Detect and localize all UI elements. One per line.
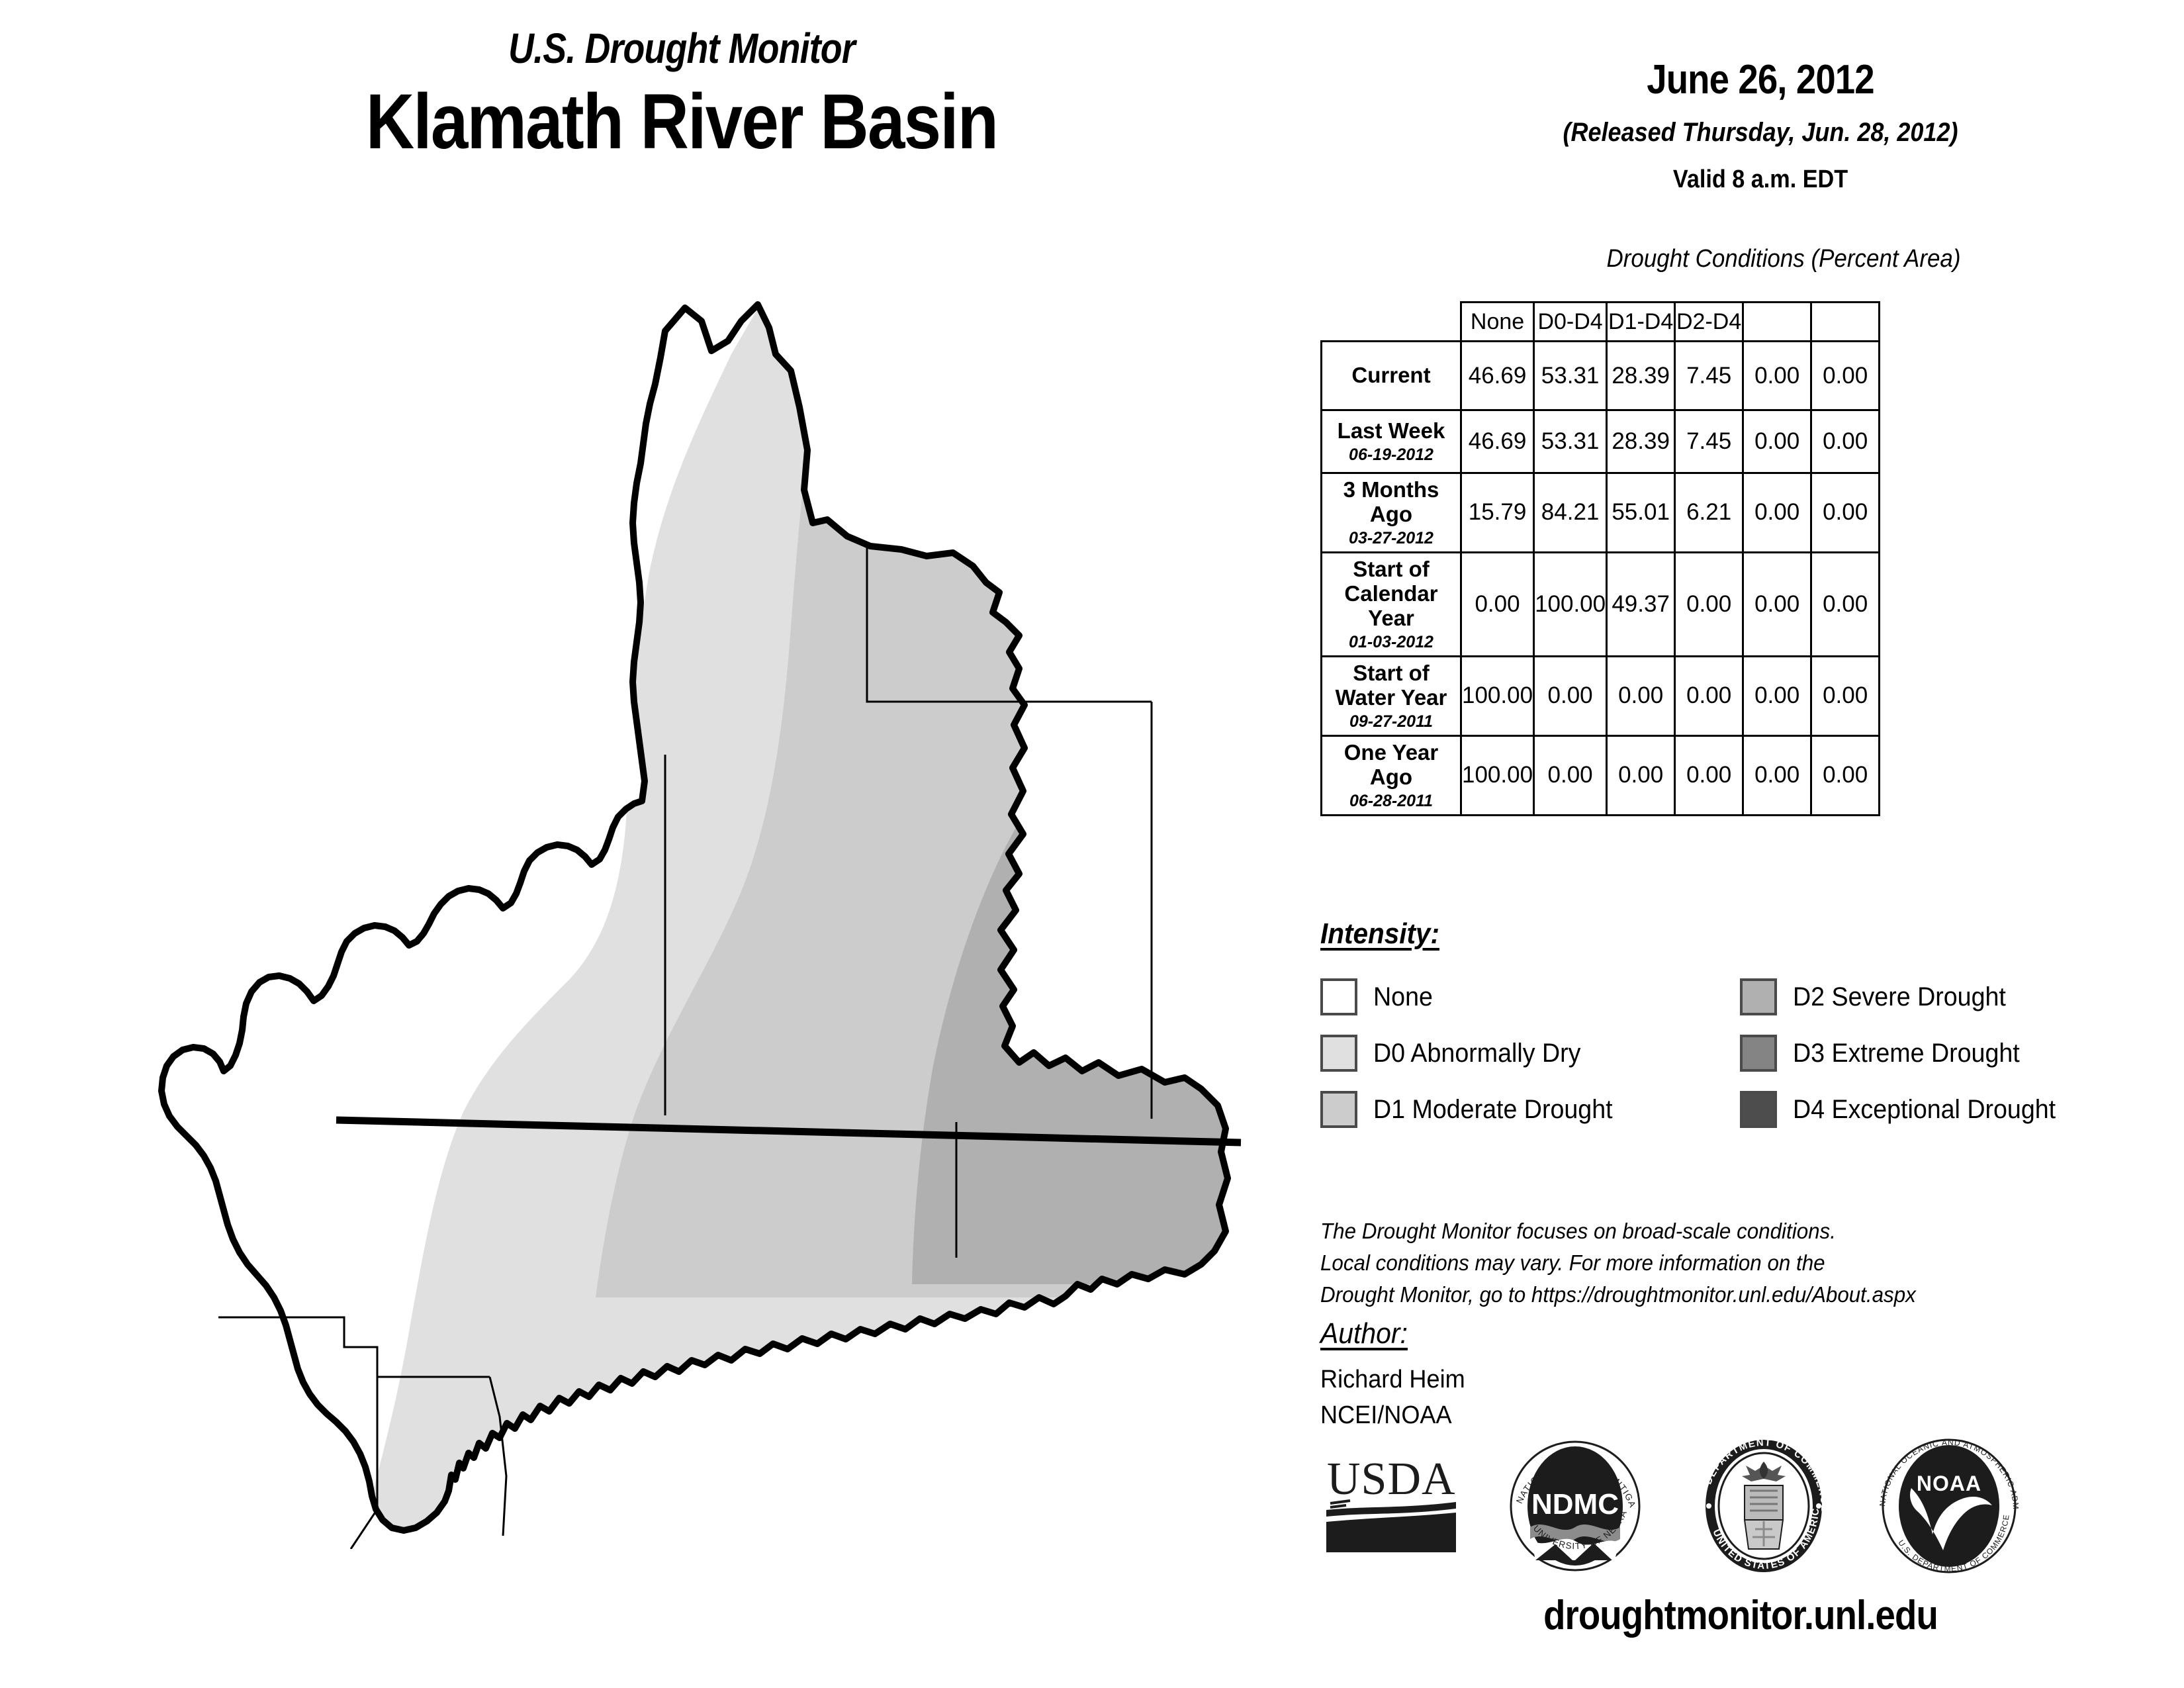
cell-oneyear-d4: 0.00 [1811,735,1880,815]
cell-current-d2d4: 7.45 [1675,342,1743,410]
table-corner-cell [1322,303,1461,342]
swatch-d0-icon [1320,1035,1357,1072]
drought-monitor-page: U.S. Drought Monitor Klamath River Basin [0,0,2184,1688]
disclaimer-text: The Drought Monitor focuses on broad-sca… [1320,1215,2094,1311]
map-title-block: U.S. Drought Monitor Klamath River Basin [0,26,1363,164]
row-label-date: 09-27-2011 [1325,712,1457,731]
col-header-d4: D4 [1811,303,1880,342]
valid-date: June 26, 2012 [1411,56,2110,103]
svg-text:NDMC: NDMC [1531,1488,1619,1521]
cell-3months-d1d4: 55.01 [1607,473,1675,553]
cell-lastweek-d3d4: 0.00 [1743,410,1811,473]
cell-oneyear-none: 100.00 [1461,735,1534,815]
row-label-text-line1: Start of [1353,557,1430,581]
row-label-text: One Year Ago [1344,740,1439,789]
legend-item-d3: D3 Extreme Drought [1740,1029,2072,1077]
cell-3months-d2d4: 6.21 [1675,473,1743,553]
col-header-none: None [1461,303,1534,342]
author-heading: Author: [1320,1317,1408,1350]
table-row: Current 46.69 53.31 28.39 7.45 0.00 0.00 [1322,342,1880,410]
svg-text:NOAA: NOAA [1917,1472,1981,1495]
website-url[interactable]: droughtmonitor.unl.edu [1371,1592,2111,1639]
legend-item-d0: D0 Abnormally Dry [1320,1029,1628,1077]
cell-lastweek-d0d4: 53.31 [1534,410,1607,473]
drought-map[interactable] [66,291,1343,1549]
cell-calyear-d0d4: 100.00 [1534,552,1607,656]
cell-current-none: 46.69 [1461,342,1534,410]
intensity-heading: Intensity: [1320,917,1439,951]
swatch-d4-icon [1740,1091,1777,1128]
cell-current-d0d4: 53.31 [1534,342,1607,410]
row-label-3-months-ago: 3 Months Ago 03-27-2012 [1322,473,1461,553]
swatch-d3-icon [1740,1035,1777,1072]
row-label-last-week: Last Week 06-19-2012 [1322,410,1461,473]
table-head: None D0-D4 D1-D4 D2-D4 D3-D4 D4 [1322,303,1880,342]
cell-calyear-d4: 0.00 [1811,552,1880,656]
cell-oneyear-d0d4: 0.00 [1534,735,1607,815]
ndmc-logo-icon: NDMC NATIONAL DROUGHT MITIGATION CENTER … [1509,1440,1641,1572]
table-row: Last Week 06-19-2012 46.69 53.31 28.39 7… [1322,410,1880,473]
noaa-logo-icon: NOAA NATIONAL OCEANIC AND ATMOSPHERIC AD… [1880,1436,2019,1575]
cell-wateryear-d2d4: 0.00 [1675,656,1743,735]
table-row: Start of Water Year 09-27-2011 100.00 0.… [1322,656,1880,735]
legend-item-none: None [1320,973,1628,1021]
table-row: One Year Ago 06-28-2011 100.00 0.00 0.00… [1322,735,1880,815]
legend-item-d4: D4 Exceptional Drought [1740,1086,2072,1133]
cell-current-d3d4: 0.00 [1743,342,1811,410]
cell-lastweek-d4: 0.00 [1811,410,1880,473]
cell-wateryear-d4: 0.00 [1811,656,1880,735]
cell-current-d4: 0.00 [1811,342,1880,410]
table-header-row: None D0-D4 D1-D4 D2-D4 D3-D4 D4 [1322,303,1880,342]
disclaimer-line-1: The Drought Monitor focuses on broad-sca… [1320,1215,2094,1247]
col-header-d2-d4: D2-D4 [1675,303,1743,342]
cell-calyear-none: 0.00 [1461,552,1534,656]
legend-item-d2: D2 Severe Drought [1740,973,2072,1021]
valid-time: Valid 8 a.m. EDT [1403,165,2118,194]
legend-item-d1: D1 Moderate Drought [1320,1086,1628,1133]
row-label-date: 03-27-2012 [1325,529,1457,547]
drought-conditions-table: None D0-D4 D1-D4 D2-D4 D3-D4 D4 Current … [1320,301,1880,816]
legend-label-d4: D4 Exceptional Drought [1793,1095,2056,1125]
cell-oneyear-d1d4: 0.00 [1607,735,1675,815]
legend-column-right: D2 Severe Drought D3 Extreme Drought D4 … [1740,973,2072,1142]
cell-wateryear-d3d4: 0.00 [1743,656,1811,735]
cell-calyear-d1d4: 49.37 [1607,552,1675,656]
logo-row: USDA NDMC [1317,1440,2144,1572]
released-date: (Released Thursday, Jun. 28, 2012) [1403,118,2118,148]
region-title: Klamath River Basin [95,81,1268,164]
row-label-text: 3 Months Ago [1343,477,1439,526]
cell-current-d1d4: 28.39 [1607,342,1675,410]
row-label-text: Last Week [1338,418,1445,443]
disclaimer-line-3: Drought Monitor, go to https://droughtmo… [1320,1279,2094,1311]
author-org: NCEI/NOAA [1320,1401,1452,1430]
disclaimer-line-2: Local conditions may vary. For more info… [1320,1247,2094,1279]
cell-3months-none: 15.79 [1461,473,1534,553]
row-label-start-water-year: Start of Water Year 09-27-2011 [1322,656,1461,735]
cell-wateryear-d0d4: 0.00 [1534,656,1607,735]
cell-3months-d4: 0.00 [1811,473,1880,553]
row-label-date: 06-19-2012 [1325,445,1457,464]
row-label-text-line2: Calendar Year [1344,581,1437,630]
col-header-d0-d4: D0-D4 [1534,303,1607,342]
info-panel: June 26, 2012 (Released Thursday, Jun. 2… [1363,0,2184,1688]
row-label-text-line2: Water Year [1336,685,1447,710]
legend-label-d0: D0 Abnormally Dry [1373,1039,1580,1068]
row-label-start-calendar-year: Start of Calendar Year 01-03-2012 [1322,552,1461,656]
col-header-d1-d4: D1-D4 [1607,303,1675,342]
cell-wateryear-none: 100.00 [1461,656,1534,735]
cell-oneyear-d2d4: 0.00 [1675,735,1743,815]
legend-label-d1: D1 Moderate Drought [1373,1095,1613,1125]
usda-logo-icon: USDA [1324,1453,1476,1559]
row-label-current: Current [1322,342,1461,410]
cell-lastweek-d1d4: 28.39 [1607,410,1675,473]
cell-calyear-d2d4: 0.00 [1675,552,1743,656]
product-title: U.S. Drought Monitor [109,26,1254,71]
swatch-none-icon [1320,978,1357,1015]
row-label-date: 06-28-2011 [1325,792,1457,810]
author-name: Richard Heim [1320,1366,1465,1394]
cell-calyear-d3d4: 0.00 [1743,552,1811,656]
legend-label-d3: D3 Extreme Drought [1793,1039,2020,1068]
table-caption: Drought Conditions (Percent Area) [1397,245,2170,273]
row-label-date: 01-03-2012 [1325,633,1457,651]
svg-text:USDA: USDA [1327,1454,1456,1505]
cell-3months-d3d4: 0.00 [1743,473,1811,553]
col-header-d3-d4: D3-D4 [1743,303,1811,342]
legend-label-none: None [1373,982,1433,1012]
legend-label-d2: D2 Severe Drought [1793,982,2006,1012]
cell-lastweek-none: 46.69 [1461,410,1534,473]
table-row: Start of Calendar Year 01-03-2012 0.00 1… [1322,552,1880,656]
row-label-text: Current [1351,363,1430,387]
cell-wateryear-d1d4: 0.00 [1607,656,1675,735]
row-label-one-year-ago: One Year Ago 06-28-2011 [1322,735,1461,815]
table-body: Current 46.69 53.31 28.39 7.45 0.00 0.00… [1322,342,1880,816]
doc-logo-icon: DEPARTMENT OF COMMERCE UNITED STATES OF … [1694,1436,1833,1575]
swatch-d1-icon [1320,1091,1357,1128]
cell-oneyear-d3d4: 0.00 [1743,735,1811,815]
row-label-text-line1: Start of [1353,661,1430,685]
legend-column-left: None D0 Abnormally Dry D1 Moderate Droug… [1320,973,1628,1142]
cell-lastweek-d2d4: 7.45 [1675,410,1743,473]
swatch-d2-icon [1740,978,1777,1015]
cell-3months-d0d4: 84.21 [1534,473,1607,553]
table-row: 3 Months Ago 03-27-2012 15.79 84.21 55.0… [1322,473,1880,553]
